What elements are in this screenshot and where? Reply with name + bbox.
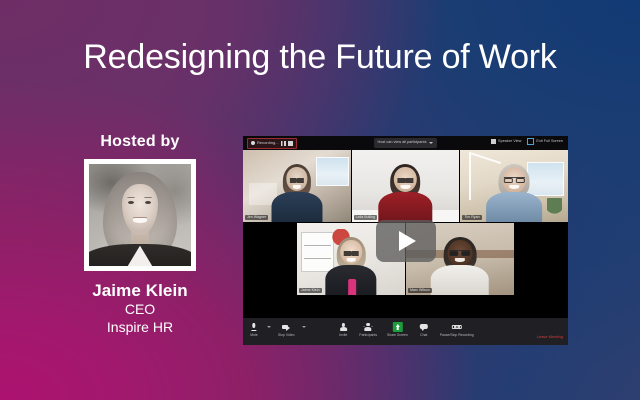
chevron-up-icon[interactable] [267, 326, 271, 328]
chevron-down-icon [429, 142, 433, 144]
toolbar-left-group: Mute Stop Video [248, 322, 306, 337]
eyeglasses-icon [504, 177, 524, 183]
portrait-photo-icon [89, 164, 191, 266]
sunglasses-icon [449, 250, 470, 256]
mute-label: Mute [250, 334, 258, 337]
chat-label: Chat [420, 334, 427, 337]
meeting-top-bar: Recording... Host can view all participa… [243, 136, 568, 150]
invite-person-icon [338, 322, 348, 332]
slide-canvas: Redesigning the Future of Work Hosted by… [0, 0, 640, 400]
record-dot-icon [251, 141, 255, 145]
chat-button[interactable]: Chat [418, 322, 430, 337]
meeting-view-controls: Speaker View Exit Full Screen [491, 138, 563, 145]
speaker-view-icon [491, 139, 496, 144]
meeting-toolbar: Mute Stop Video Invite Participants [243, 318, 568, 345]
chevron-up-icon[interactable] [302, 326, 306, 328]
toolbar-center-group: Invite Participants Share Screen Chat Pa… [337, 322, 473, 337]
host-photo-frame [84, 159, 196, 271]
share-screen-icon [392, 322, 402, 332]
participant-name-tag: Marc Wilson [408, 288, 432, 293]
chat-bubble-icon [419, 322, 429, 332]
mute-button[interactable]: Mute [248, 322, 260, 337]
hosted-by-label: Hosted by [60, 133, 220, 151]
meeting-view-label[interactable]: Host can view all participants [374, 138, 438, 148]
participant-tile[interactable]: Tim Ryan [460, 150, 568, 222]
speaker-view-label: Speaker View [498, 140, 521, 144]
invite-button[interactable]: Invite [337, 322, 349, 337]
participants-people-icon [363, 322, 373, 332]
host-block: Hosted by Jaime Klein CEO Inspire HR [60, 133, 220, 336]
participant-tile[interactable]: Leila Bulling [352, 150, 460, 222]
camera-icon [281, 322, 291, 332]
participant-name-tag: Tim Ryan [462, 215, 481, 220]
participant-name-tag: Leila Bulling [354, 215, 377, 220]
page-title: Redesigning the Future of Work [0, 38, 640, 77]
stop-icon[interactable] [288, 141, 293, 146]
exit-fullscreen-button[interactable]: Exit Full Screen [527, 138, 563, 145]
video-player[interactable]: Recording... Host can view all participa… [243, 136, 568, 345]
share-screen-label: Share Screen [387, 334, 408, 337]
recording-label: Recording... [257, 141, 279, 145]
invite-label: Invite [339, 334, 347, 337]
meeting-center-label: Host can view all participants [378, 141, 427, 145]
recording-indicator[interactable]: Recording... [247, 138, 297, 149]
participant-name-tag: Jen Wagner [245, 215, 268, 220]
speaker-view-button[interactable]: Speaker View [491, 139, 521, 144]
pause-recording-icon [452, 322, 462, 332]
stop-video-button[interactable]: Stop Video [278, 322, 295, 337]
participant-name-tag: Jaime Klein [299, 288, 322, 293]
pause-recording-label: Pause/Stop Recording [440, 334, 474, 337]
exit-fullscreen-label: Exit Full Screen [536, 140, 563, 144]
play-button[interactable] [376, 220, 436, 262]
participants-button[interactable]: Participants [359, 322, 377, 337]
host-role: CEO [60, 301, 220, 319]
stop-video-label: Stop Video [278, 334, 295, 337]
host-organization: Inspire HR [60, 319, 220, 337]
participant-row-top: Jen Wagner Leila Bulling [243, 150, 568, 222]
participants-label: Participants [359, 334, 377, 337]
play-triangle-icon [399, 231, 416, 251]
pause-recording-button[interactable]: Pause/Stop Recording [440, 322, 474, 337]
pause-icon[interactable] [281, 141, 286, 146]
share-screen-button[interactable]: Share Screen [387, 322, 408, 337]
microphone-icon [249, 322, 259, 332]
participant-tile[interactable]: Jen Wagner [243, 150, 351, 222]
host-name: Jaime Klein [60, 281, 220, 301]
exit-fullscreen-icon [527, 138, 534, 145]
leave-meeting-button[interactable]: Leave Meeting [537, 335, 563, 339]
